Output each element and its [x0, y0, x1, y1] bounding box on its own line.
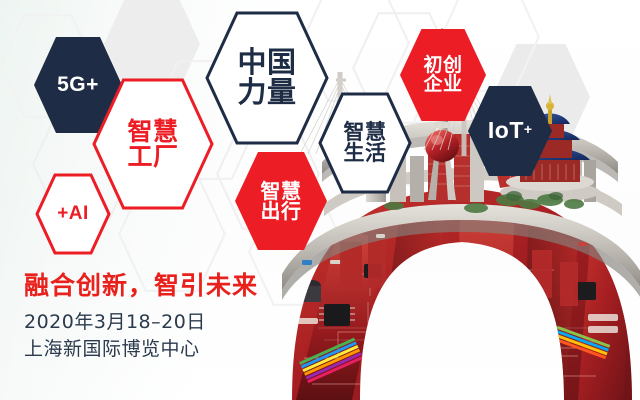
badge-label-startup-enterprise: 初创 企业 [423, 56, 462, 95]
event-copy-block: 融合创新，智引未来 2020年3月18–20日 上海新国际博览中心 [24, 272, 258, 362]
badge-china-power[interactable]: 中国 力量 [205, 11, 329, 145]
badge-label-iot-plus: IoT [488, 119, 524, 142]
badge-superscript-iot-plus: + [524, 122, 532, 136]
badge-label-plus-ai: +AI [57, 204, 89, 223]
badge-label-smart-mobility: 智慧 出行 [261, 181, 302, 222]
badge-smart-life[interactable]: 智慧 生活 [318, 92, 412, 194]
poster-canvas: 5G+智慧 工厂+AI中国 力量智慧 出行智慧 生活初创 企业IoT+ 融合创新… [0, 0, 640, 400]
event-date: 2020年3月18–20日 [24, 310, 258, 335]
badge-plus-ai[interactable]: +AI [35, 173, 111, 255]
badge-label-smart-life: 智慧 生活 [344, 122, 387, 165]
badge-smart-mobility[interactable]: 智慧 出行 [235, 152, 327, 250]
event-venue: 上海新国际博览中心 [24, 337, 258, 362]
badge-label-china-power: 中国 力量 [237, 48, 296, 107]
badge-label-smart-factory: 智慧 工厂 [127, 119, 178, 170]
poster-headline: 融合创新，智引未来 [24, 272, 258, 300]
badge-iot-plus[interactable]: IoT+ [468, 86, 552, 176]
badge-label-5g-plus: 5G+ [57, 74, 99, 95]
